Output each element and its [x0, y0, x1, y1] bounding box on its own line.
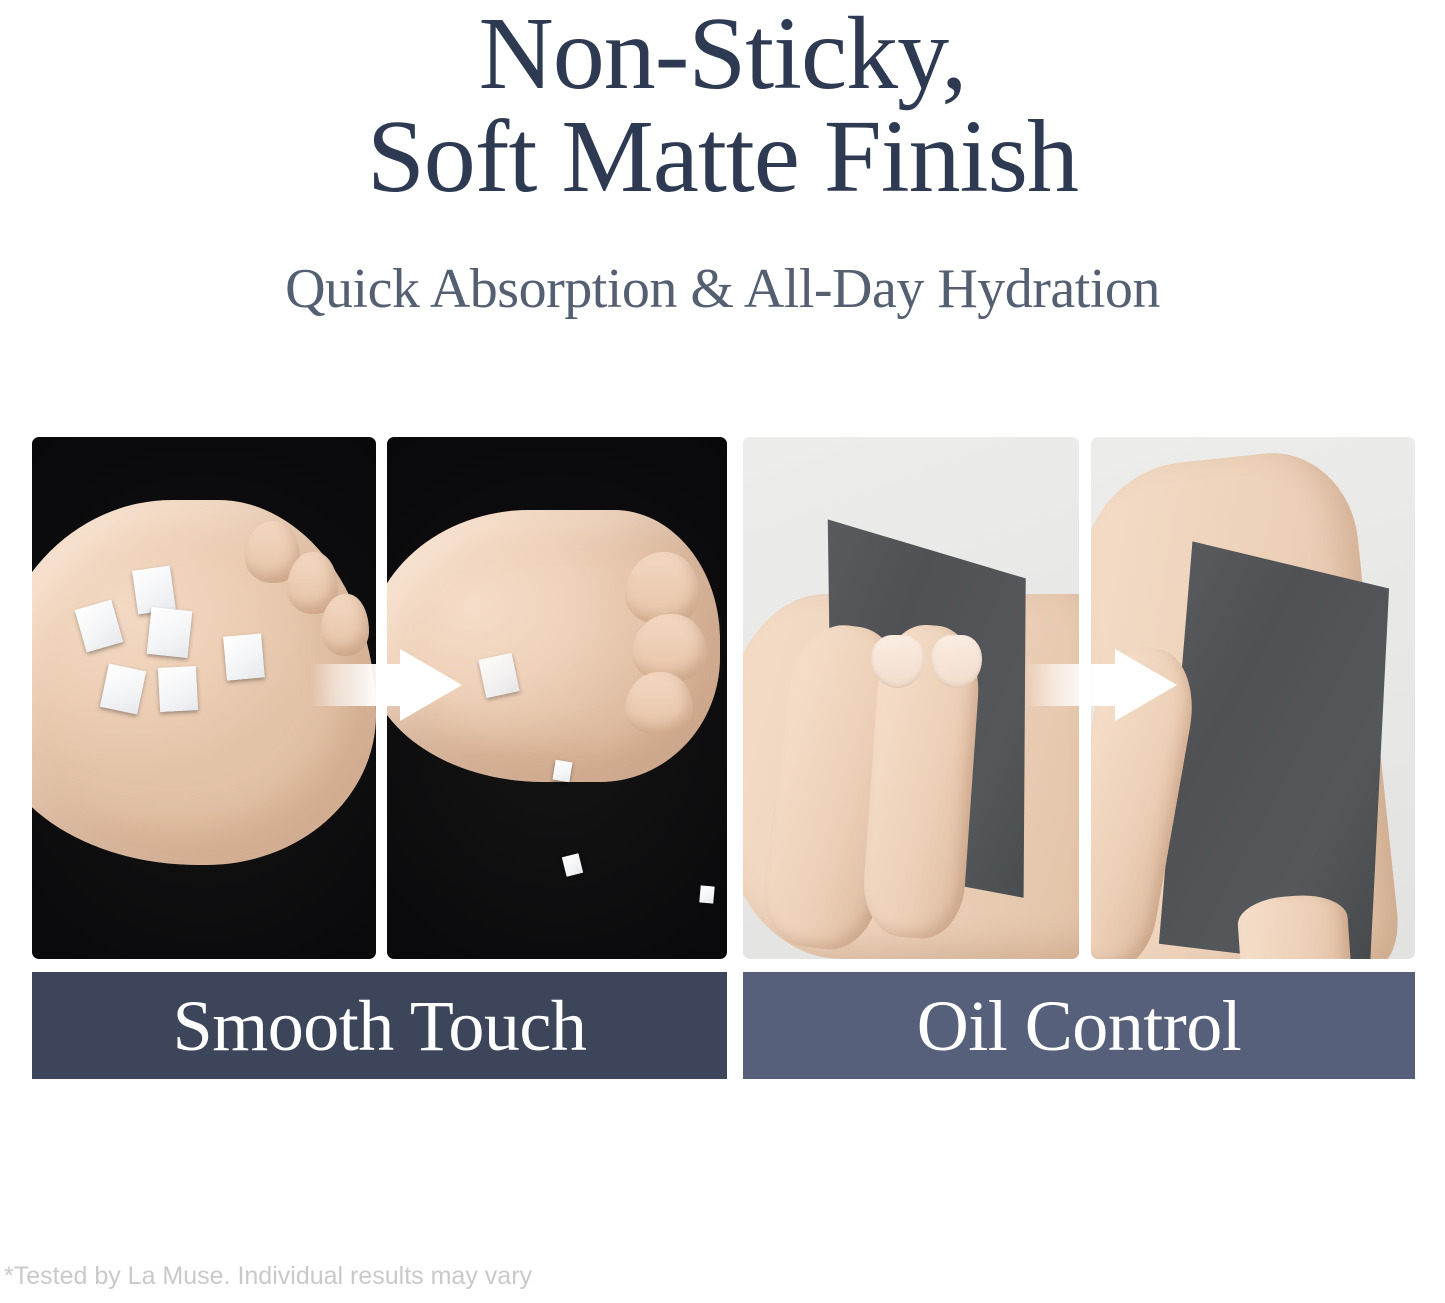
knuckle-shape: [625, 672, 693, 735]
disclaimer-footnote: *Tested by La Muse. Individual results m…: [4, 1261, 532, 1291]
paper-square: [223, 634, 265, 681]
right-arrow-icon: [1025, 649, 1177, 721]
right-arrow-icon: [310, 649, 462, 721]
knuckle-shape: [321, 594, 369, 657]
comparison-group-oil-control: Oil Control: [743, 437, 1415, 1079]
arrow-head: [400, 649, 462, 721]
page-headline: Non-Sticky, Soft Matte Finish: [0, 2, 1445, 208]
arrow-tail: [310, 664, 406, 706]
arrow-head: [1115, 649, 1177, 721]
caption-label: Oil Control: [917, 990, 1242, 1062]
paper-square-falling: [699, 885, 715, 903]
caption-bar-smooth-touch: Smooth Touch: [32, 972, 727, 1079]
panel-pair-smooth-touch: [32, 437, 727, 959]
fingernail: [931, 635, 981, 687]
paper-square: [147, 607, 193, 658]
arrow-tail: [1025, 664, 1121, 706]
paper-square-falling: [562, 853, 583, 876]
caption-label: Smooth Touch: [173, 990, 587, 1062]
comparison-section: Smooth Touch: [32, 437, 1415, 1079]
paper-square: [158, 666, 198, 712]
panel-pair-oil-control: [743, 437, 1415, 959]
page-subheadline: Quick Absorption & All-Day Hydration: [0, 258, 1445, 320]
caption-bar-oil-control: Oil Control: [743, 972, 1415, 1079]
comparison-group-smooth-touch: Smooth Touch: [32, 437, 727, 1079]
paper-square-falling: [552, 759, 572, 781]
